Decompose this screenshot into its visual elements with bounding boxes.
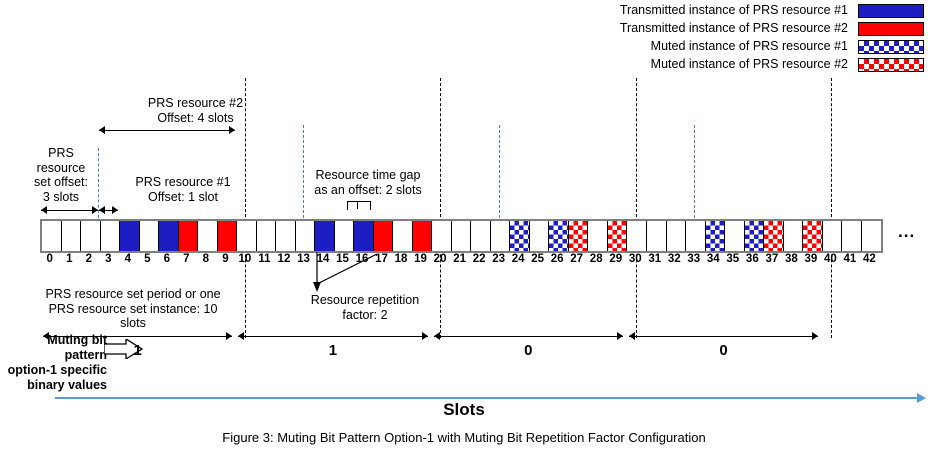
slot-number: 3	[99, 252, 119, 266]
legend-label: Muted instance of PRS resource #2	[448, 56, 858, 73]
slot-number: 30	[625, 252, 645, 266]
slot-cell	[686, 221, 706, 251]
slot-cell	[569, 221, 589, 251]
slot-cell	[549, 221, 569, 251]
slot-number: 37	[762, 252, 782, 266]
slot-cell	[784, 221, 804, 251]
bit-value: 1	[40, 342, 235, 359]
annotation-line: 3 slots	[25, 190, 97, 205]
slot-cell	[764, 221, 784, 251]
resource-offset-line-slot23	[499, 125, 500, 223]
slot-cell	[276, 221, 296, 251]
legend-item: Transmitted instance of PRS resource #1	[448, 2, 924, 19]
slots-axis-label: Slots	[0, 400, 928, 420]
bit-segment-arrow	[43, 332, 232, 341]
slot-number: 25	[528, 252, 548, 266]
slot-number: 34	[704, 252, 724, 266]
legend-item: Transmitted instance of PRS resource #2	[448, 20, 924, 37]
annotation-line: resource	[25, 161, 97, 176]
slot-number: 10	[235, 252, 255, 266]
resource-offset-line-slot33	[694, 125, 695, 223]
slot-cell	[120, 221, 140, 251]
slots-axis-line	[55, 397, 921, 399]
slot-number: 20	[430, 252, 450, 266]
period-boundary-line-slot20	[440, 78, 441, 338]
slot-cell	[706, 221, 726, 251]
period-boundary-line-slot40	[831, 78, 832, 338]
legend-item: Muted instance of PRS resource #1	[448, 38, 924, 55]
slot-cell	[315, 221, 335, 251]
slot-cell	[432, 221, 452, 251]
slot-cell	[393, 221, 413, 251]
annotation-line: set offset:	[25, 175, 97, 190]
slot-grid	[40, 219, 883, 253]
bit-pattern-row: 1100	[40, 326, 880, 358]
annotation-line: as an offset: 2 slots	[298, 183, 438, 198]
annotation-line: Offset: 1 slot	[108, 190, 258, 205]
resource-repetition-annotation: Resource repetition factor: 2	[290, 293, 440, 322]
legend-label: Muted instance of PRS resource #1	[448, 38, 858, 55]
slot-cell	[237, 221, 257, 251]
slot-cell	[159, 221, 179, 251]
slot-number: 32	[665, 252, 685, 266]
slot-cell	[101, 221, 121, 251]
slot-number: 8	[196, 252, 216, 266]
slot-cell	[627, 221, 647, 251]
slot-number: 22	[469, 252, 489, 266]
slot-number: 29	[606, 252, 626, 266]
slot-cell	[510, 221, 530, 251]
slot-number: 21	[450, 252, 470, 266]
slot-number: 11	[255, 252, 275, 266]
slot-number-row: 0123456789101112131415161718192021222324…	[40, 252, 879, 266]
slot-number: 12	[274, 252, 294, 266]
legend-swatch-muted-prs1-icon	[858, 40, 924, 54]
slot-number: 33	[684, 252, 704, 266]
annotation-line: PRS resource set period or one	[28, 287, 238, 302]
figure-caption: Figure 3: Muting Bit Pattern Option-1 wi…	[0, 430, 928, 445]
slot-cell	[218, 221, 238, 251]
slot-cell	[335, 221, 355, 251]
slot-cell	[588, 221, 608, 251]
slot-number: 5	[138, 252, 158, 266]
prs-resource1-offset-annotation: PRS resource #1 Offset: 1 slot	[108, 175, 258, 204]
slot-cell	[296, 221, 316, 251]
slot-number: 19	[411, 252, 431, 266]
annotation-line: PRS resource #2	[103, 96, 288, 111]
bit-value: 0	[431, 342, 626, 359]
slot-number: 2	[79, 252, 99, 266]
bit-value: 0	[626, 342, 821, 359]
annotation-line: PRS	[25, 146, 97, 161]
slot-number: 23	[489, 252, 509, 266]
slot-number: 4	[118, 252, 138, 266]
slot-number: 0	[40, 252, 60, 266]
slot-number: 7	[177, 252, 197, 266]
time-gap-bracket-icon	[347, 201, 371, 210]
legend-item: Muted instance of PRS resource #2	[448, 56, 924, 73]
slot-number: 26	[547, 252, 567, 266]
slot-cell	[725, 221, 745, 251]
slot-cell	[803, 221, 823, 251]
grid-ellipsis: ...	[898, 222, 915, 242]
prs-resource2-offset-arrow	[99, 126, 235, 135]
resource1-offset-arrow	[99, 206, 118, 215]
legend-swatch-transmitted-prs2-icon	[858, 22, 924, 36]
annotation-line: Offset: 4 slots	[103, 111, 288, 126]
annotation-line: Resource repetition	[290, 293, 440, 308]
repetition-callout-leader-icon	[305, 252, 385, 294]
legend-swatch-transmitted-prs1-icon	[858, 4, 924, 18]
slot-number: 35	[723, 252, 743, 266]
annotation-line: binary values	[2, 378, 107, 393]
slot-cell	[42, 221, 62, 251]
slot-number: 9	[216, 252, 236, 266]
bit-segment-arrow	[629, 332, 818, 341]
bit-segment-arrow	[238, 332, 427, 341]
slot-cell	[471, 221, 491, 251]
legend-swatch-muted-prs2-icon	[858, 58, 924, 72]
slot-number: 18	[391, 252, 411, 266]
legend-label: Transmitted instance of PRS resource #1	[448, 2, 858, 19]
slot-cell	[452, 221, 472, 251]
slot-cell	[862, 221, 882, 251]
prs-resource2-offset-annotation: PRS resource #2 Offset: 4 slots	[103, 96, 288, 125]
slot-number: 1	[60, 252, 80, 266]
slot-number: 28	[586, 252, 606, 266]
slot-cell	[823, 221, 843, 251]
slot-cell	[140, 221, 160, 251]
slot-cell	[198, 221, 218, 251]
annotation-line: PRS resource #1	[108, 175, 258, 190]
slot-cell	[257, 221, 277, 251]
annotation-line: option-1 specific	[2, 363, 107, 378]
slot-cell	[354, 221, 374, 251]
slot-cell	[81, 221, 101, 251]
slot-number: 27	[567, 252, 587, 266]
slot-number: 24	[508, 252, 528, 266]
slot-cell	[842, 221, 862, 251]
bit-value: 1	[235, 342, 430, 359]
slot-number: 40	[821, 252, 841, 266]
prs-resource-set-offset-annotation: PRS resource set offset: 3 slots	[25, 146, 97, 204]
slot-cell	[608, 221, 628, 251]
slot-cell	[745, 221, 765, 251]
slot-number: 6	[157, 252, 177, 266]
slot-number: 36	[743, 252, 763, 266]
slot-cell	[491, 221, 511, 251]
time-gap-stem-icon	[357, 201, 358, 209]
slot-cell	[62, 221, 82, 251]
slot-cell	[667, 221, 687, 251]
slot-number: 31	[645, 252, 665, 266]
slot-cell	[530, 221, 550, 251]
annotation-line: PRS resource set instance: 10	[28, 302, 238, 317]
set-offset-arrow	[41, 206, 98, 215]
slot-cell	[413, 221, 433, 251]
slot-cell	[647, 221, 667, 251]
slot-number: 38	[782, 252, 802, 266]
period-boundary-line-slot30	[636, 78, 637, 338]
annotation-line: Resource time gap	[298, 168, 438, 183]
slot-number: 42	[860, 252, 880, 266]
slot-number: 39	[801, 252, 821, 266]
annotation-line: factor: 2	[290, 308, 440, 323]
slot-number: 41	[840, 252, 860, 266]
legend: Transmitted instance of PRS resource #1 …	[448, 2, 924, 74]
slot-cell	[179, 221, 199, 251]
prs-set-period-annotation: PRS resource set period or one PRS resou…	[28, 287, 238, 331]
slot-cell	[374, 221, 394, 251]
resource-time-gap-annotation: Resource time gap as an offset: 2 slots	[298, 168, 438, 197]
legend-label: Transmitted instance of PRS resource #2	[448, 20, 858, 37]
bit-segment-arrow	[434, 332, 623, 341]
